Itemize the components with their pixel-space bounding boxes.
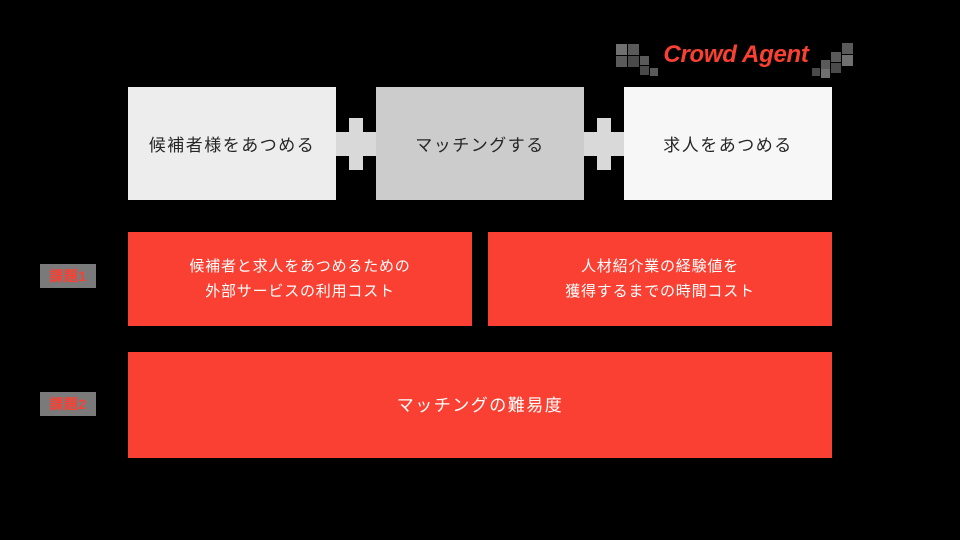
process-box-label: マッチングする	[415, 131, 545, 156]
descending-staircase-icon	[628, 56, 639, 67]
ascending-staircase-icon	[812, 68, 820, 76]
arrow-head	[349, 118, 363, 170]
descending-staircase-icon	[640, 66, 649, 75]
ascending-staircase-icon	[821, 60, 830, 69]
brand-logo: Crowd Agent	[612, 38, 860, 86]
issue-box-line-2: 獲得するまでの時間コスト	[565, 279, 755, 304]
issue-label-text: 課題2	[49, 394, 86, 414]
issue-box-external-service-cost[interactable]: 候補者と求人をあつめるための 外部サービスの利用コスト	[128, 232, 472, 326]
ascending-staircase-icon	[821, 69, 830, 78]
issue-box-line-1: 候補者と求人をあつめるための	[189, 254, 410, 279]
issue-box-matching-difficulty[interactable]: マッチングの難易度	[128, 352, 832, 458]
descending-staircase-icon	[616, 56, 627, 67]
ascending-staircase-icon	[842, 43, 853, 54]
descending-staircase-icon	[650, 68, 658, 76]
issue-label-text: 課題1	[49, 266, 86, 286]
process-box-label: 候補者様をあつめる	[149, 131, 316, 156]
ascending-staircase-icon	[831, 63, 841, 73]
process-box-matching[interactable]: マッチングする	[376, 87, 584, 200]
slide-canvas: Crowd Agent 候補者様をあつめる マッチングする 求人をあつめる 課題…	[0, 0, 960, 540]
ascending-staircase-icon	[831, 52, 841, 62]
process-box-collect-candidates[interactable]: 候補者様をあつめる	[128, 87, 336, 200]
descending-staircase-icon	[628, 44, 639, 55]
process-box-collect-jobs[interactable]: 求人をあつめる	[624, 87, 832, 200]
issue-box-line-1: マッチングの難易度	[397, 393, 564, 418]
ascending-staircase-icon	[842, 55, 853, 66]
issue-label-2: 課題2	[40, 392, 96, 416]
descending-staircase-icon	[640, 56, 649, 65]
right-arrow-icon	[584, 118, 624, 170]
right-arrow-icon	[336, 118, 376, 170]
process-box-label: 求人をあつめる	[663, 131, 793, 156]
brand-wordmark: Crowd Agent	[660, 41, 812, 69]
issue-box-line-2: 外部サービスの利用コスト	[205, 279, 395, 304]
issue-label-1: 課題1	[40, 264, 96, 288]
issue-box-line-1: 人材紹介業の経験値を	[581, 254, 739, 279]
arrow-head	[597, 118, 611, 170]
issue-box-experience-time-cost[interactable]: 人材紹介業の経験値を 獲得するまでの時間コスト	[488, 232, 832, 326]
descending-staircase-icon	[616, 44, 627, 55]
